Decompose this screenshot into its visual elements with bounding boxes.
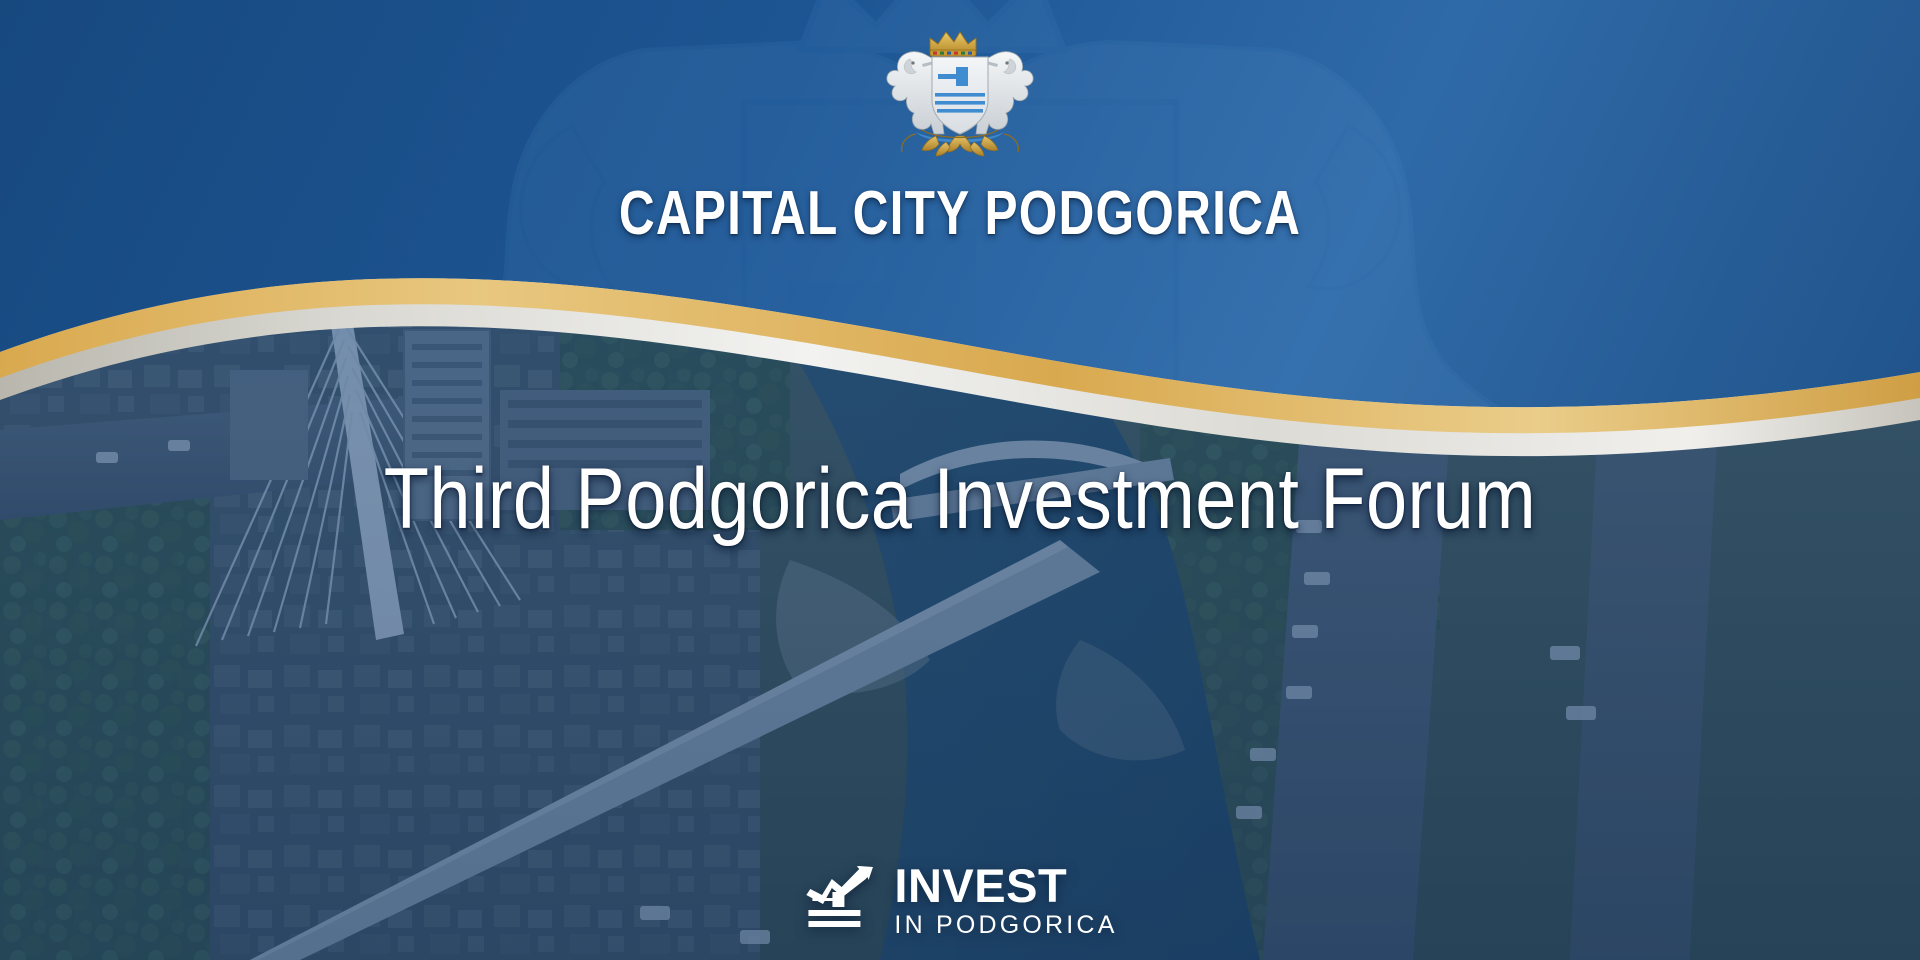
invest-in-podgorica-logo: INVEST IN PODGORICA xyxy=(802,862,1117,938)
page-title: CAPITAL CITY PODGORICA xyxy=(192,178,1728,249)
invest-subtitle: IN PODGORICA xyxy=(894,913,1117,938)
event-headline: Third Podgorica Investment Forum xyxy=(134,450,1785,549)
invest-logo-text: INVEST IN PODGORICA xyxy=(894,862,1117,938)
podgorica-coat-of-arms-icon xyxy=(872,22,1048,158)
growth-arrow-chart-icon xyxy=(802,864,880,936)
invest-word: INVEST xyxy=(894,862,1067,909)
poster-canvas: CAPITAL CITY PODGORICA Third Podgorica I… xyxy=(0,0,1920,960)
